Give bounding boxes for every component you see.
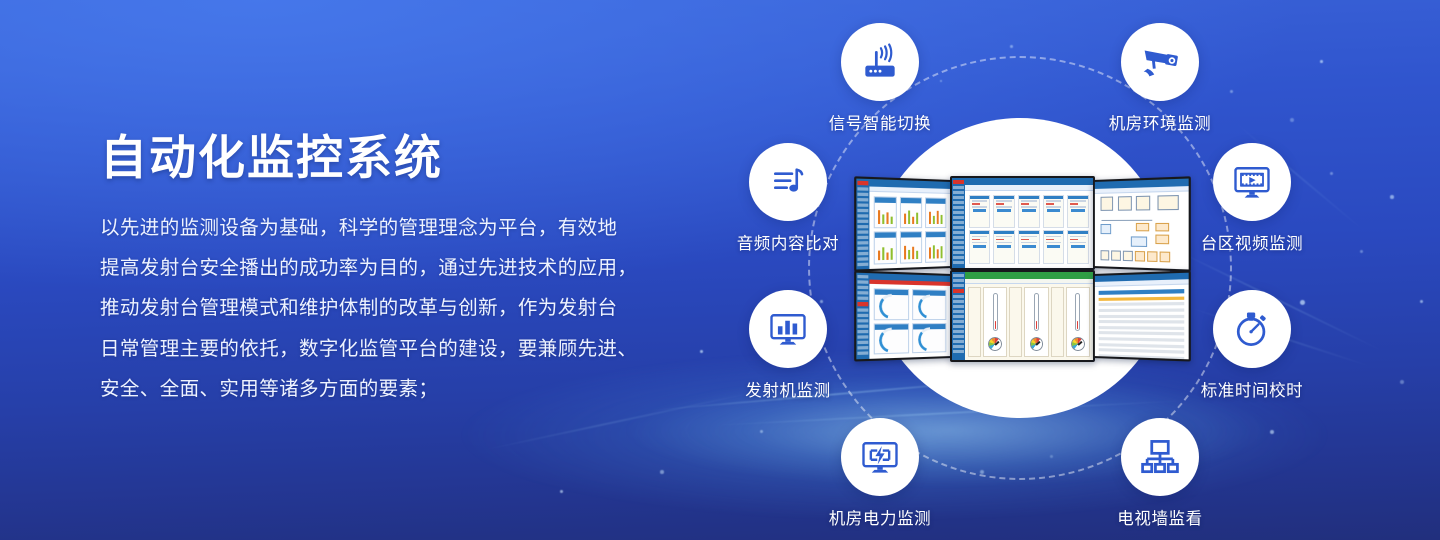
hero-description-line: 推动发射台管理模式和维护体制的改革与创新，作为发射台	[100, 288, 700, 328]
hero-description: 以先进的监测设备为基础，科学的管理理念为平台，有效地提高发射台安全播出的成功率为…	[100, 208, 700, 410]
feature-label: 音频内容比对	[713, 230, 863, 254]
feature-node-power[interactable]: 机房电力监测	[805, 418, 955, 529]
feature-node-transmitter[interactable]: 发射机监测	[713, 290, 863, 401]
feature-label: 标准时间校时	[1177, 377, 1327, 401]
feature-icon-bubble	[1213, 143, 1291, 221]
monitor-screen-top-center	[950, 176, 1095, 270]
monitor-wall	[852, 172, 1192, 362]
router-wifi-icon	[858, 40, 902, 84]
feature-label: 机房环境监测	[1085, 110, 1235, 134]
feature-node-tv-wall[interactable]: 电视墙监看	[1085, 418, 1235, 529]
stopwatch-icon	[1230, 307, 1274, 351]
feature-icon-bubble	[1213, 290, 1291, 368]
monitor-bar-chart-icon	[766, 307, 810, 351]
hero-banner: 自动化监控系统 以先进的监测设备为基础，科学的管理理念为平台，有效地提高发射台安…	[0, 0, 1440, 540]
hero-description-line: 提高发射台安全播出的成功率为目的，通过先进技术的应用，	[100, 248, 700, 288]
page-title: 自动化监控系统	[100, 133, 700, 186]
org-hierarchy-icon	[1138, 435, 1182, 479]
feature-icon-bubble	[841, 23, 919, 101]
feature-node-audio[interactable]: 音频内容比对	[713, 143, 863, 254]
feature-label: 电视墙监看	[1085, 505, 1235, 529]
feature-icon-bubble	[749, 143, 827, 221]
monitor-screen-bottom-center	[950, 270, 1095, 362]
feature-label: 发射机监测	[713, 377, 863, 401]
feature-icon-bubble	[1121, 418, 1199, 496]
feature-node-environment[interactable]: 机房环境监测	[1085, 23, 1235, 134]
feature-label: 信号智能切换	[805, 110, 955, 134]
feature-node-time-sync[interactable]: 标准时间校时	[1177, 290, 1327, 401]
hero-copy: 自动化监控系统 以先进的监测设备为基础，科学的管理理念为平台，有效地提高发射台安…	[100, 133, 700, 409]
hero-description-line: 以先进的监测设备为基础，科学的管理理念为平台，有效地	[100, 208, 700, 248]
monitor-screen-top-left	[854, 176, 952, 271]
feature-node-signal[interactable]: 信号智能切换	[805, 23, 955, 134]
feature-label: 机房电力监测	[805, 505, 955, 529]
feature-icon-bubble	[1121, 23, 1199, 101]
feature-label: 台区视频监测	[1177, 230, 1327, 254]
monitor-video-play-icon	[1230, 160, 1274, 204]
feature-icon-bubble	[841, 418, 919, 496]
music-note-list-icon	[767, 161, 809, 203]
cctv-camera-icon	[1137, 39, 1183, 85]
monitor-battery-bolt-icon	[858, 435, 902, 479]
hero-description-line: 安全、全面、实用等诸多方面的要素；	[100, 369, 700, 409]
feature-icon-bubble	[749, 290, 827, 368]
feature-node-video[interactable]: 台区视频监测	[1177, 143, 1327, 254]
hero-description-line: 日常管理主要的依托，数字化监管平台的建设，要兼顾先进、	[100, 329, 700, 369]
monitor-screen-bottom-left	[854, 270, 952, 361]
